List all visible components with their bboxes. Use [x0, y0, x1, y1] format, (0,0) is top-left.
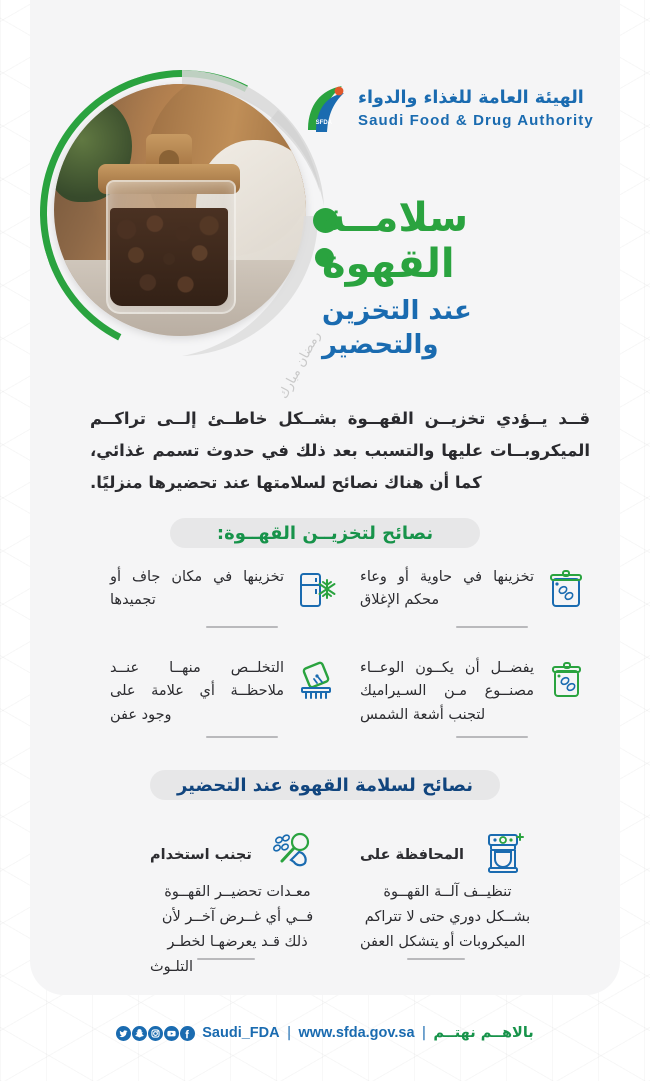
title-sub: عند التخزين والتحضير [322, 295, 602, 363]
tip-storage-4-text: التخلــص منهــا عنــد ملاحظــة أي علامة … [110, 657, 284, 727]
sfda-logo-icon: SFDA [302, 84, 348, 134]
tip-storage-1-text: تخزينها في حاوية أو وعاء محكم الإغلاق [360, 566, 534, 613]
tip-prep-1-text: تنظيــف آلــة القهــوة بشــكل دوري حتى ل… [360, 880, 535, 955]
refrigerator-snowflake-icon [292, 566, 340, 614]
instagram-icon[interactable] [148, 1026, 163, 1041]
intro-paragraph: قــد يــؤدي تخزيــن القهــوة بشــكل خاطـ… [90, 403, 590, 500]
brand-name-arabic: الهيئة العامة للغذاء والدواء [358, 90, 584, 108]
tip-divider [456, 626, 528, 628]
title-main-line2: القهوة [322, 242, 602, 288]
title-main-line1: سلامــة [322, 196, 602, 242]
youtube-icon[interactable] [164, 1026, 179, 1041]
tip-storage-4: التخلــص منهــا عنــد ملاحظــة أي علامة … [110, 657, 340, 727]
mold-disposal-icon [292, 657, 340, 705]
section-heading-preparation: نصائح لسلامة القهوة عند التحضير [150, 770, 500, 800]
tip-divider [206, 626, 278, 628]
tip-prep-2-text: معـدات تحضيــر القهــوة فــي أي غــرض آخ… [150, 880, 325, 980]
tip-prep-2-head: تجنب استخدام [150, 843, 252, 868]
social-links[interactable] [116, 1026, 195, 1041]
tip-storage-2-text: تخزينها في مكان جاف أو تجميدها [110, 566, 284, 613]
section-heading-storage: نصائح لتخزيــن القهــوة: [170, 518, 480, 548]
svg-text:SFDA: SFDA [316, 120, 333, 126]
title-sub-line2: والتحضير [322, 329, 602, 363]
snapchat-icon[interactable] [132, 1026, 147, 1041]
page-title: سلامــة القهوة عند التخزين والتحضير [322, 196, 602, 363]
tip-storage-3-text: يفضــل أن يكــون الوعــاء مصنــوع مـن ال… [360, 657, 534, 727]
tip-storage-3: يفضــل أن يكــون الوعــاء مصنــوع مـن ال… [360, 657, 590, 727]
facebook-icon[interactable] [180, 1026, 195, 1041]
brand-name-english: Saudi Food & Drug Authority [358, 113, 594, 128]
footer-slogan: بالاهــم نهتــم [433, 1025, 533, 1041]
brand-text: الهيئة العامة للغذاء والدواء Saudi Food … [358, 90, 594, 128]
sealed-jar-icon [542, 566, 590, 614]
coffee-jar-photo [54, 84, 306, 336]
title-sub-line1: عند التخزين [322, 295, 602, 329]
brand-logo: الهيئة العامة للغذاء والدواء Saudi Food … [302, 78, 602, 140]
coffee-machine-icon [479, 830, 527, 878]
tip-storage-1: تخزينها في حاوية أو وعاء محكم الإغلاق [360, 566, 590, 614]
social-handle[interactable]: Saudi_FDA [202, 1025, 279, 1041]
footer: Saudi_FDA | www.sfda.gov.sa | بالاهــم ن… [0, 1020, 650, 1046]
hero-image-area: رمضان مبارك [30, 58, 330, 378]
twitter-icon[interactable] [116, 1026, 131, 1041]
tip-prep-1-head: المحافظة على [360, 843, 464, 868]
tip-divider [197, 958, 255, 960]
tip-storage-2: تخزينها في مكان جاف أو تجميدها [110, 566, 340, 614]
coffee-tools-icon [267, 830, 315, 878]
footer-separator-2: | [422, 1025, 427, 1041]
ceramic-jar-icon [542, 657, 590, 705]
ramadan-watermark: رمضان مبارك [276, 329, 324, 401]
tip-divider [407, 958, 465, 960]
tip-prep-1: المحافظة على تنظيــف آلــة القهــوة بشــ… [360, 830, 535, 955]
tip-divider [206, 736, 278, 738]
website-link[interactable]: www.sfda.gov.sa [299, 1025, 415, 1041]
footer-separator-1: | [287, 1025, 292, 1041]
title-main: سلامــة القهوة [322, 196, 602, 287]
tip-divider [456, 736, 528, 738]
